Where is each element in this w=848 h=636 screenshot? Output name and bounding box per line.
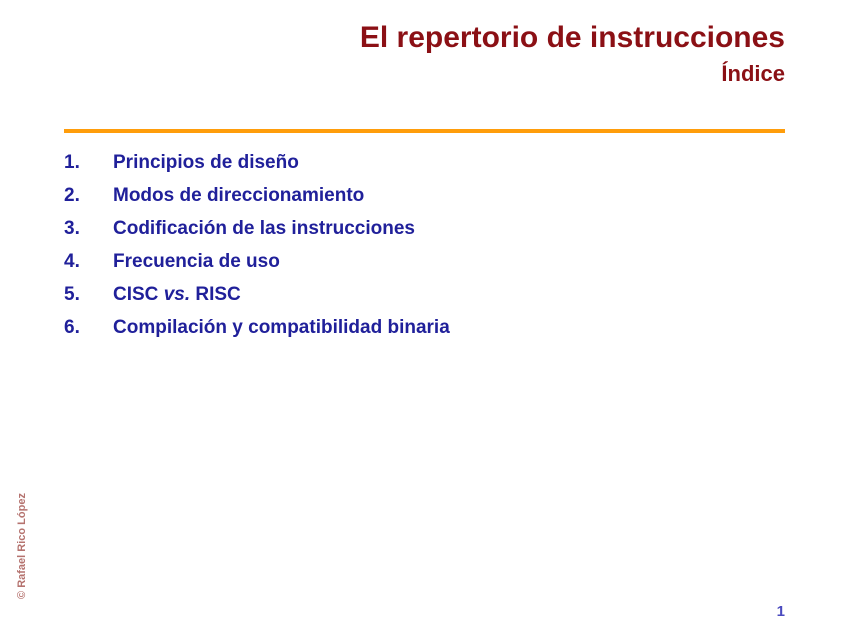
list-item-label: Compilación y compatibilidad binaria bbox=[113, 317, 450, 339]
list-item-label-italic: vs. bbox=[164, 284, 190, 305]
list-item[interactable]: 3. Codificación de las instrucciones bbox=[64, 218, 804, 251]
list-item[interactable]: 6. Compilación y compatibilidad binaria bbox=[64, 317, 804, 350]
list-item-number: 1. bbox=[64, 152, 113, 174]
list-item-label: Codificación de las instrucciones bbox=[113, 218, 415, 240]
table-of-contents: 1. Principios de diseño 2. Modos de dire… bbox=[64, 152, 804, 350]
list-item-number: 2. bbox=[64, 185, 113, 207]
page-number: 1 bbox=[700, 603, 785, 620]
page-subtitle: Índice bbox=[64, 62, 785, 86]
list-item[interactable]: 1. Principios de diseño bbox=[64, 152, 804, 185]
list-item[interactable]: 5. CISC vs. RISC bbox=[64, 284, 804, 317]
header-divider-rule bbox=[64, 129, 785, 133]
list-item-number: 6. bbox=[64, 317, 113, 339]
list-item[interactable]: 4. Frecuencia de uso bbox=[64, 251, 804, 284]
list-item-label-prefix: CISC bbox=[113, 284, 164, 305]
list-item[interactable]: 2. Modos de direccionamiento bbox=[64, 185, 804, 218]
list-item-number: 4. bbox=[64, 251, 113, 273]
list-item-number: 5. bbox=[64, 284, 113, 306]
page-title: El repertorio de instrucciones bbox=[64, 22, 785, 54]
presentation-slide: El repertorio de instrucciones Índice 1.… bbox=[0, 0, 848, 636]
list-item-number: 3. bbox=[64, 218, 113, 240]
list-item-label: Modos de direccionamiento bbox=[113, 185, 364, 207]
list-item-label: CISC vs. RISC bbox=[113, 284, 241, 306]
list-item-label: Principios de diseño bbox=[113, 152, 299, 174]
list-item-label: Frecuencia de uso bbox=[113, 251, 280, 273]
copyright-notice: © Rafael Rico López bbox=[16, 486, 28, 606]
list-item-label-suffix: RISC bbox=[190, 284, 241, 305]
